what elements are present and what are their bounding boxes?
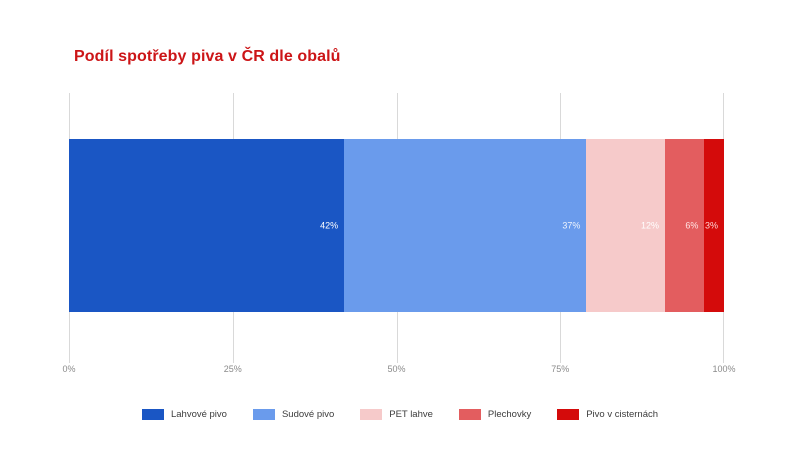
- legend-item[interactable]: PET lahve: [360, 409, 433, 420]
- legend-item[interactable]: Sudové pivo: [253, 409, 334, 420]
- legend-item-label: Plechovky: [488, 409, 531, 420]
- legend-item[interactable]: Lahvové pivo: [142, 409, 227, 420]
- x-axis-tick-label: 75%: [551, 364, 569, 374]
- legend-item-label: PET lahve: [389, 409, 433, 420]
- legend-color-swatch-icon: [253, 409, 275, 420]
- bar-segment[interactable]: 42%: [69, 139, 344, 312]
- bar-segment-value-label: 6%: [685, 220, 698, 231]
- chart-container: Podíl spotřeby piva v ČR dle obalů 42%37…: [0, 0, 800, 450]
- legend-item-label: Pivo v cisternách: [586, 409, 658, 420]
- bar-segment-value-label: 3%: [705, 220, 718, 231]
- bar-segment[interactable]: 37%: [344, 139, 586, 312]
- bar-segment-value-label: 12%: [641, 220, 659, 231]
- legend-color-swatch-icon: [142, 409, 164, 420]
- legend-item[interactable]: Pivo v cisternách: [557, 409, 658, 420]
- legend-item-label: Sudové pivo: [282, 409, 334, 420]
- bar-segment[interactable]: 12%: [586, 139, 665, 312]
- x-axis-tick-label: 50%: [387, 364, 405, 374]
- legend-color-swatch-icon: [557, 409, 579, 420]
- x-axis-tick-label: 25%: [224, 364, 242, 374]
- chart-legend: Lahvové pivoSudové pivoPET lahvePlechovk…: [0, 404, 800, 424]
- bar-segment-value-label: 37%: [562, 220, 580, 231]
- bar-segment-value-label: 42%: [320, 220, 338, 231]
- bar-segment[interactable]: 3%: [704, 139, 724, 312]
- legend-color-swatch-icon: [360, 409, 382, 420]
- x-axis-tick-label: 0%: [62, 364, 75, 374]
- x-axis: 0%25%50%75%100%: [0, 364, 800, 384]
- chart-title: Podíl spotřeby piva v ČR dle obalů: [74, 48, 341, 66]
- legend-item-label: Lahvové pivo: [171, 409, 227, 420]
- stacked-bar-series: 42%37%12%6%3%: [69, 139, 724, 312]
- legend-color-swatch-icon: [459, 409, 481, 420]
- bar-segment[interactable]: 6%: [665, 139, 704, 312]
- x-axis-tick-label: 100%: [712, 364, 735, 374]
- legend-item[interactable]: Plechovky: [459, 409, 531, 420]
